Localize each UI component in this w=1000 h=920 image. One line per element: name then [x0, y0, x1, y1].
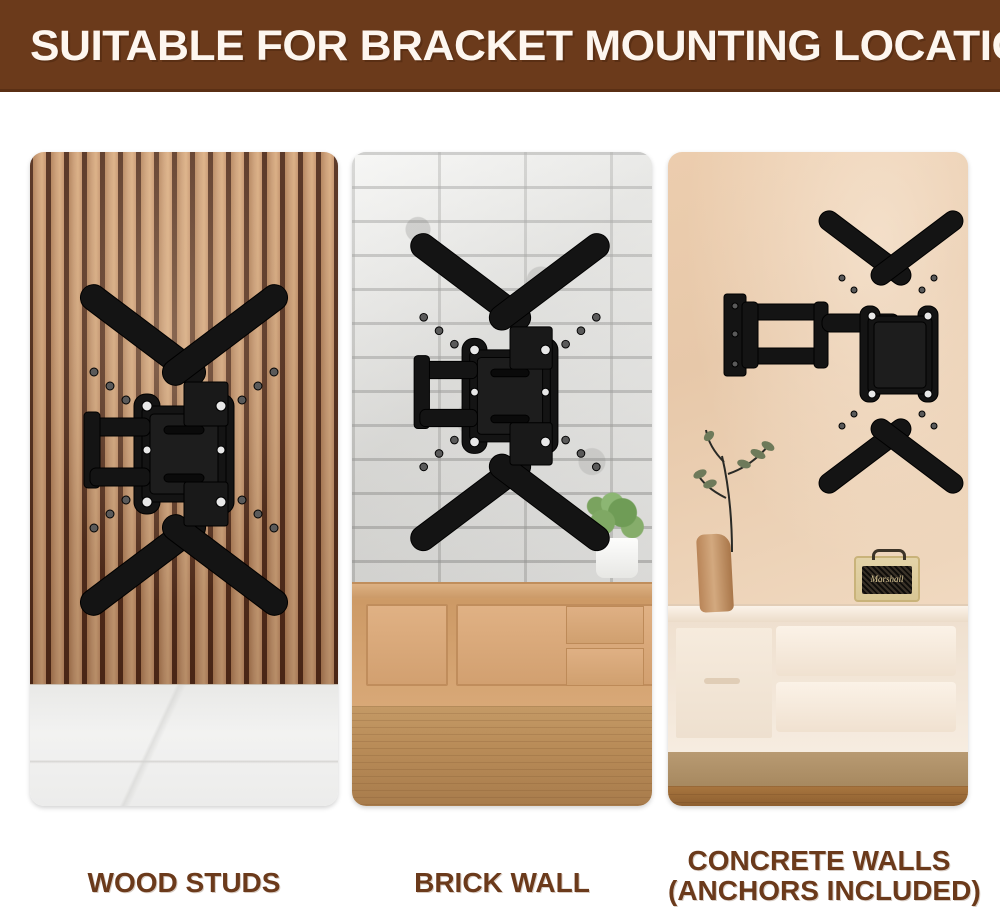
caption-line-2: (ANCHORS INCLUDED): [668, 876, 970, 906]
cream-cabinet: [668, 604, 968, 752]
cabinet-plinth: [668, 752, 968, 786]
scene-wood-slat-wall: [30, 152, 338, 806]
wood-floor: [668, 786, 968, 806]
caption-line-1: CONCRETE WALLS: [688, 845, 951, 876]
caption-concrete-walls: CONCRETE WALLS (ANCHORS INCLUDED): [668, 846, 970, 906]
scene-brick-wall: [352, 152, 652, 806]
caption-brick-wall: BRICK WALL: [352, 868, 652, 898]
mounting-locations-gallery: Marshall: [0, 148, 1000, 808]
tv-wall-mount-bracket: [370, 244, 650, 544]
caption-wood-studs: WOOD STUDS: [34, 868, 334, 898]
tv-wall-mount-bracket-extended: [722, 230, 962, 490]
tv-wall-mount-bracket: [38, 302, 330, 602]
marshall-speaker: Marshall: [854, 556, 920, 602]
panel-wood-studs[interactable]: [30, 152, 338, 806]
wooden-vase: [696, 533, 734, 613]
wood-floor: [352, 706, 652, 806]
panel-brick-wall[interactable]: [352, 152, 652, 806]
light-floor: [30, 684, 338, 806]
speaker-logo: Marshall: [856, 574, 918, 584]
wooden-tv-console: [352, 582, 652, 706]
scene-concrete-wall: Marshall: [668, 152, 968, 806]
page-title: SUITABLE FOR BRACKET MOUNTING LOCATIONS: [30, 22, 1000, 70]
panel-captions: WOOD STUDS BRICK WALL CONCRETE WALLS (AN…: [0, 838, 1000, 920]
panel-concrete-walls[interactable]: Marshall: [668, 152, 968, 806]
header-banner: SUITABLE FOR BRACKET MOUNTING LOCATIONS: [0, 0, 1000, 92]
